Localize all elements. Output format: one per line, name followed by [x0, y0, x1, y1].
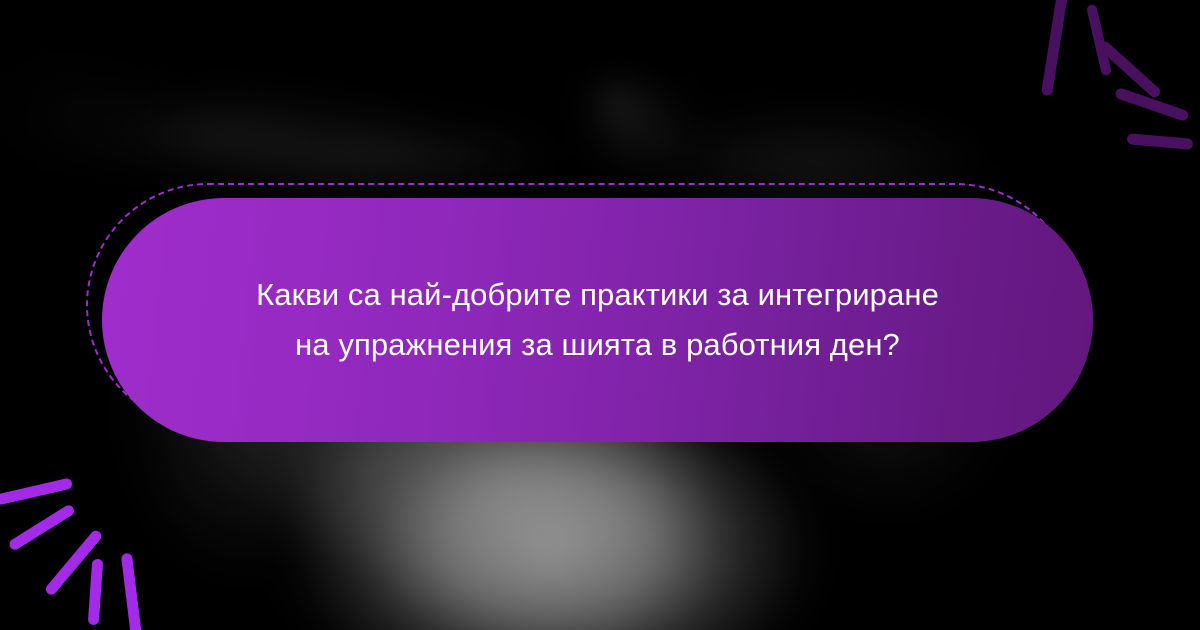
burst-rays-bottom-left [0, 477, 142, 630]
sparkle-burst-top-right-icon [1020, 0, 1200, 160]
burst-rays-top-right [1041, 0, 1193, 150]
speech-bubble: Какви са най-добрите практики за интегри… [102, 198, 1093, 442]
sparkle-burst-bottom-left-icon [0, 455, 200, 630]
speech-bubble-container: Какви са най-добрите практики за интегри… [102, 198, 1093, 442]
question-text: Какви са най-добрите практики за интегри… [228, 270, 967, 370]
question-card: Какви са най-добрите практики за интегри… [0, 0, 1200, 630]
